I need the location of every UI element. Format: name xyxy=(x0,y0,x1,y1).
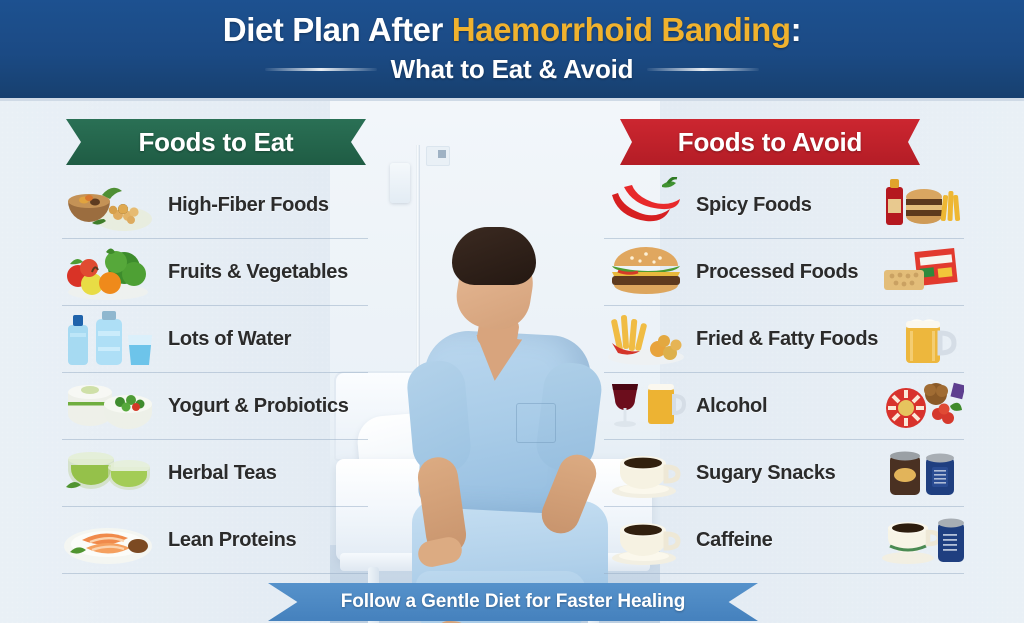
water-bottles-and-glass-icon xyxy=(62,309,158,369)
list-item[interactable]: Herbal Teas xyxy=(62,440,368,507)
list-item[interactable]: Processed Foods xyxy=(604,239,964,306)
plate-of-salmon-icon xyxy=(62,510,158,570)
iv-monitor-icon xyxy=(426,146,450,166)
list-item-label: Herbal Teas xyxy=(168,462,277,485)
list-item-label: Lots of Water xyxy=(168,328,291,351)
cup-of-coffee-icon xyxy=(604,445,688,501)
list-item[interactable]: Yogurt & Probiotics xyxy=(62,373,368,440)
list-item-label: Lean Proteins xyxy=(168,529,296,552)
patient-gown-pocket xyxy=(516,403,556,443)
list-item[interactable]: High-Fiber Foods xyxy=(62,172,368,239)
list-item-label: Alcohol xyxy=(696,395,767,418)
header-banner: Diet Plan After Haemorrhoid Banding: Wha… xyxy=(0,0,1024,101)
red-chili-peppers-icon xyxy=(604,177,688,233)
page-title: Diet Plan After Haemorrhoid Banding: xyxy=(223,13,801,48)
green-tea-bowls-icon xyxy=(62,443,158,503)
list-item-label: Processed Foods xyxy=(696,261,858,284)
yogurt-bowls-icon xyxy=(62,376,158,436)
iv-bag-icon xyxy=(390,163,410,203)
title-colon: : xyxy=(791,11,802,48)
wine-glass-and-beer-icon xyxy=(604,378,688,434)
list-item[interactable]: Lots of Water xyxy=(62,306,368,373)
subtitle-rule-right xyxy=(647,68,759,71)
list-item[interactable]: Spicy Foods xyxy=(604,172,964,239)
title-text-accent: Haemorrhoid Banding xyxy=(452,11,791,48)
patient-figure xyxy=(388,221,608,623)
footer-banner: Follow a Gentle Diet for Faster Healing xyxy=(268,583,758,621)
foods-to-avoid-list: Spicy Foods xyxy=(604,172,964,574)
soda-cans-icon xyxy=(880,445,964,501)
plate-of-fruits-and-vegetables-icon xyxy=(62,242,158,302)
cup-of-coffee-icon xyxy=(604,512,688,568)
list-item-label: Caffeine xyxy=(696,529,773,552)
patient-hair xyxy=(452,227,536,285)
foods-to-eat-list: High-Fiber Foods Fruits & Vege xyxy=(62,172,368,574)
fries-and-fried-food-icon xyxy=(604,311,688,367)
infographic-canvas: Diet Plan After Haemorrhoid Banding: Wha… xyxy=(0,0,1024,623)
list-item[interactable]: Fried & Fatty Foods xyxy=(604,306,964,373)
list-item-label: Fruits & Vegetables xyxy=(168,261,348,284)
snack-packet-and-crackers-icon xyxy=(880,244,964,300)
list-item[interactable]: Lean Proteins xyxy=(62,507,368,574)
donut-and-sweets-icon xyxy=(880,378,964,434)
footer-label: Follow a Gentle Diet for Faster Healing xyxy=(341,591,686,613)
list-item-label: Yogurt & Probiotics xyxy=(168,395,349,418)
subtitle-rule-left xyxy=(265,68,377,71)
list-item[interactable]: Caffeine xyxy=(604,507,964,574)
cheeseburger-icon xyxy=(604,244,688,300)
page-subtitle: What to Eat & Avoid xyxy=(391,54,634,85)
foods-to-avoid-label: Foods to Avoid xyxy=(678,127,862,158)
list-item-label: Fried & Fatty Foods xyxy=(696,328,878,351)
list-item-label: High-Fiber Foods xyxy=(168,194,329,217)
bowl-of-grains-and-chickpeas-icon xyxy=(62,175,158,235)
title-text-primary: Diet Plan After xyxy=(223,11,452,48)
list-item-label: Sugary Snacks xyxy=(696,462,836,485)
list-item[interactable]: Sugary Snacks xyxy=(604,440,964,507)
subtitle-row: What to Eat & Avoid xyxy=(265,54,760,85)
hot-sauce-burger-fries-icon xyxy=(880,177,964,233)
foods-to-eat-label: Foods to Eat xyxy=(138,127,293,158)
foods-to-eat-banner: Foods to Eat xyxy=(66,119,366,165)
foods-to-avoid-banner: Foods to Avoid xyxy=(620,119,920,165)
list-item[interactable]: Alcohol xyxy=(604,373,964,440)
coffee-cup-and-soda-can-icon xyxy=(880,512,964,568)
list-item[interactable]: Fruits & Vegetables xyxy=(62,239,368,306)
list-item-label: Spicy Foods xyxy=(696,194,812,217)
beer-mug-icon xyxy=(880,311,964,367)
